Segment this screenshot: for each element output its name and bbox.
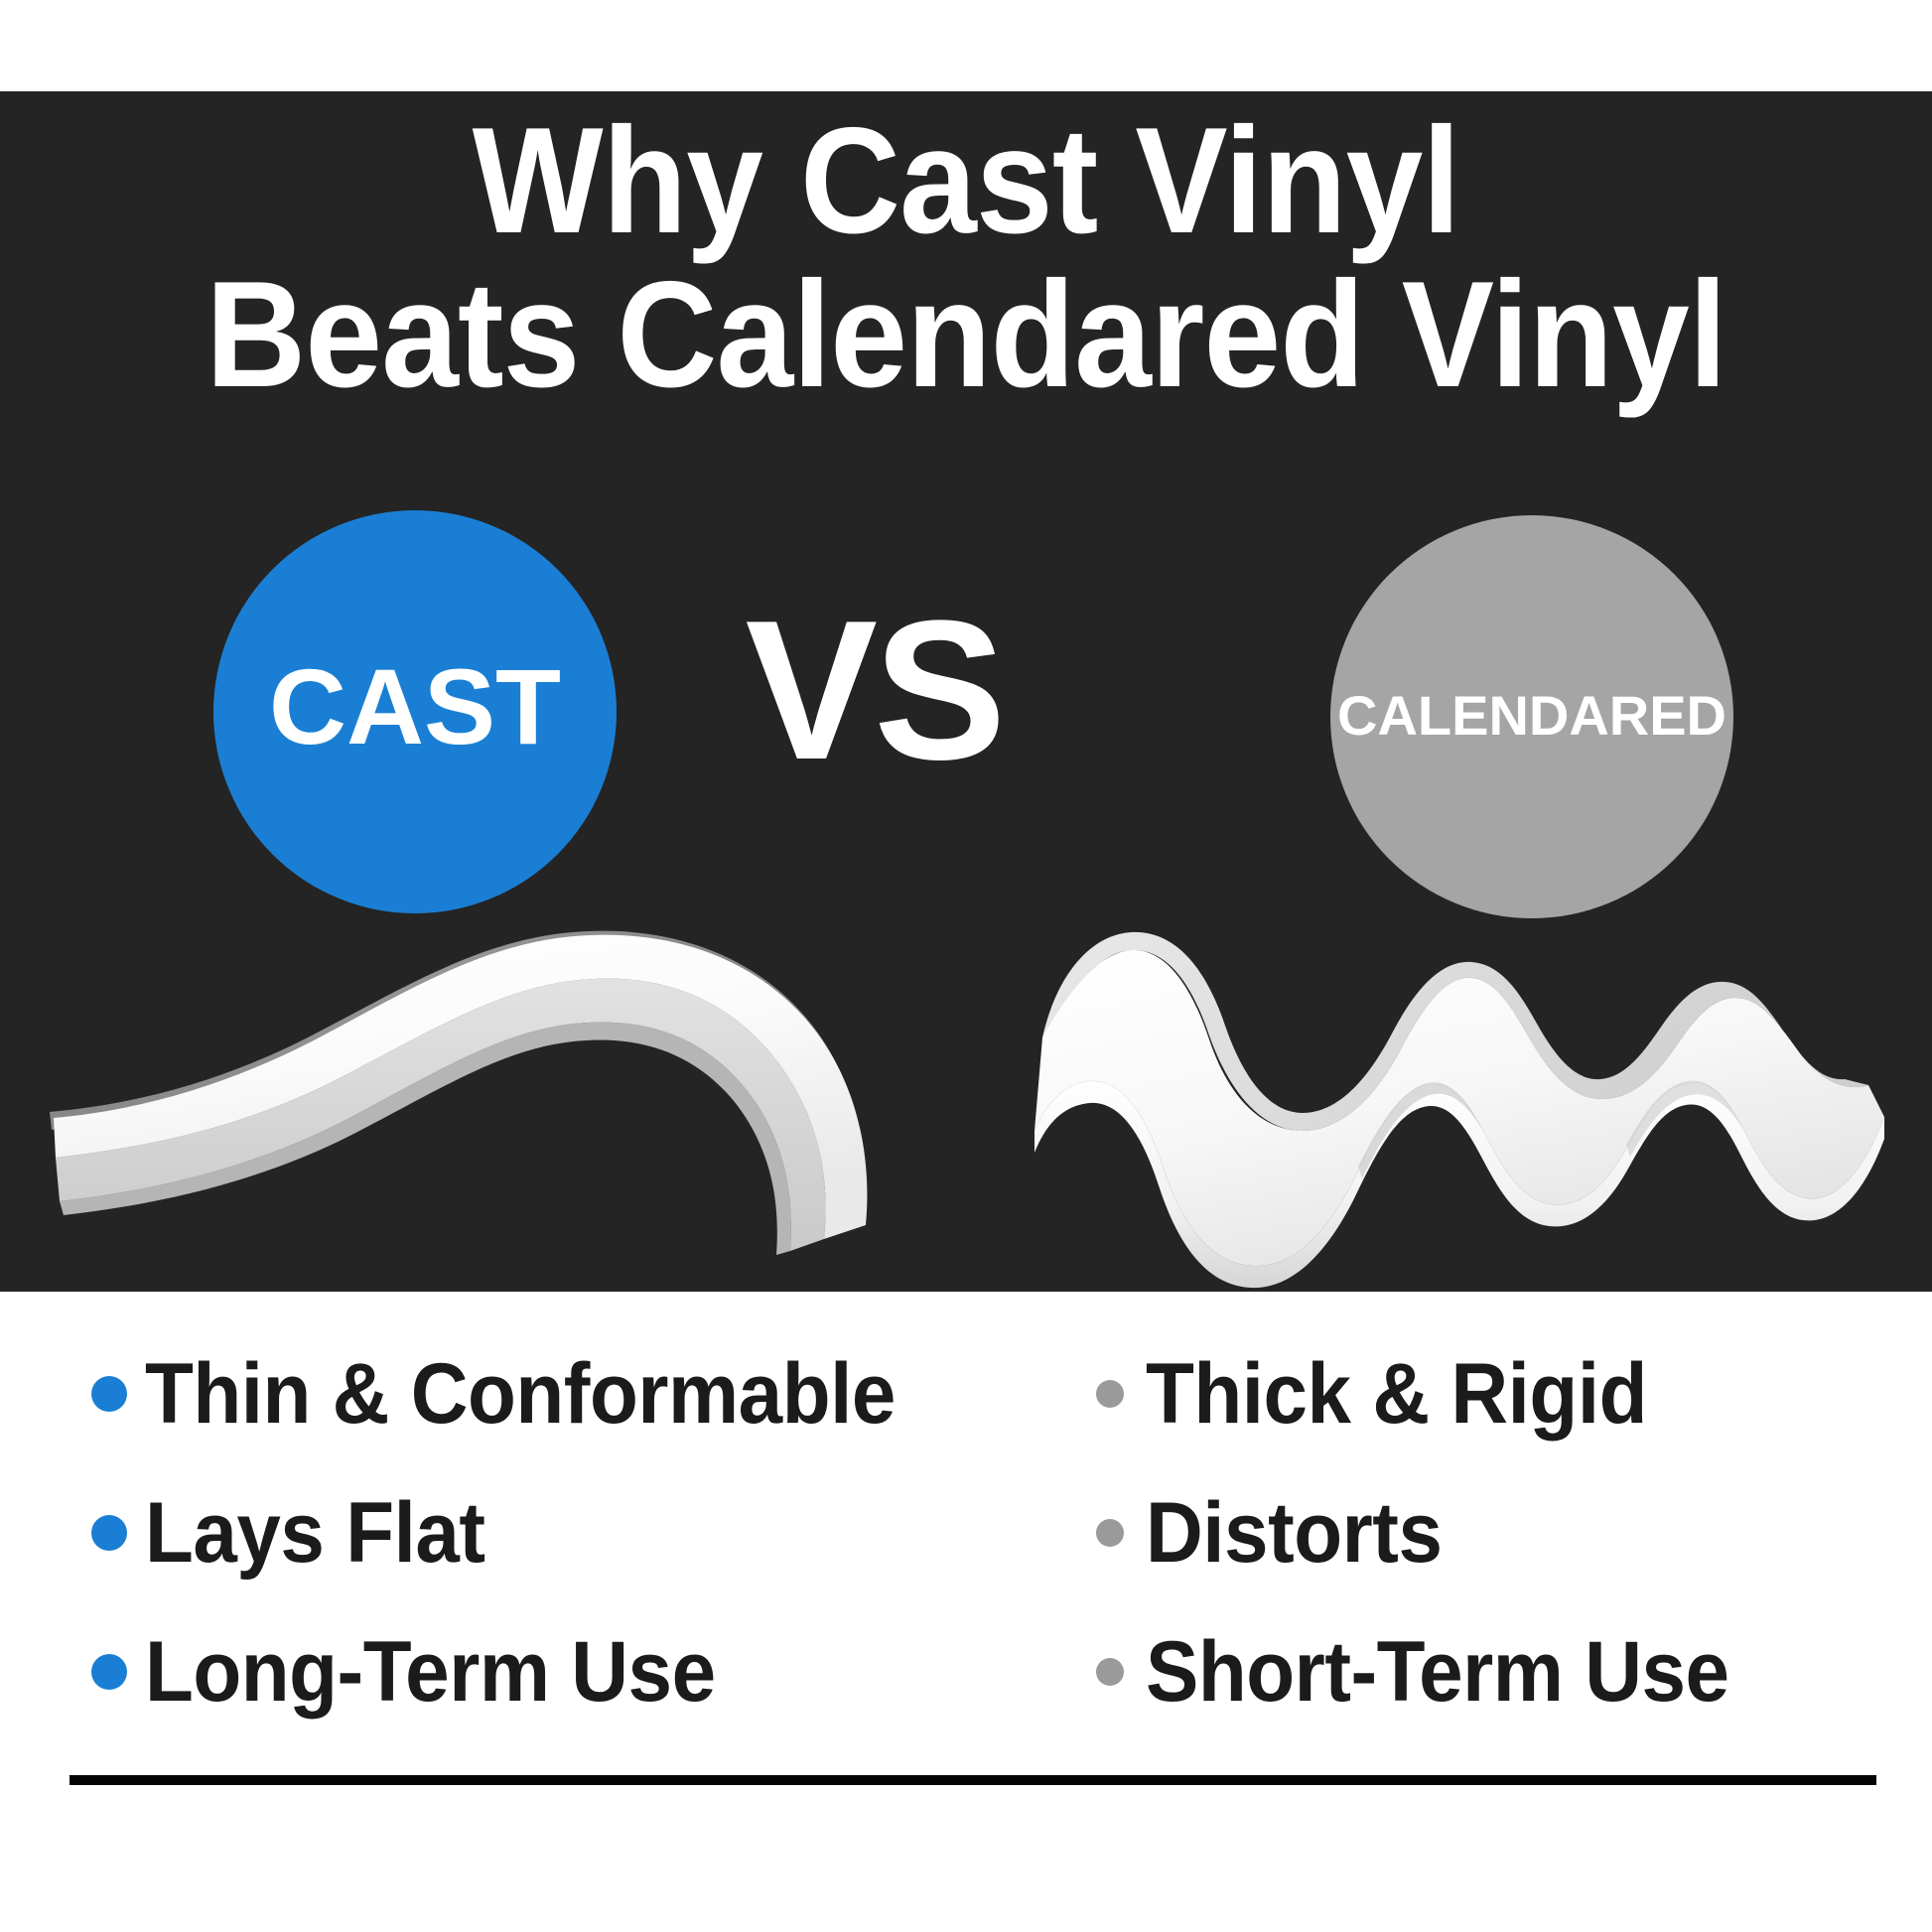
list-item: Short-Term Use (1092, 1613, 1932, 1730)
cast-feature-list: Thin & Conformable Lays Flat Long-Term U… (91, 1335, 985, 1752)
calendared-vinyl-sheet-illustration (1013, 918, 1911, 1301)
bullet-dot-icon (91, 1376, 127, 1412)
list-item: Thin & Conformable (91, 1335, 985, 1452)
list-item: Distorts (1092, 1474, 1932, 1591)
bullet-dot-icon (91, 1515, 127, 1551)
infographic-canvas: Why Cast Vinyl Beats Calendared Vinyl CA… (0, 0, 1932, 1932)
title-line-1: Why Cast Vinyl (77, 107, 1855, 255)
feature-comparison-lists: Thin & Conformable Lays Flat Long-Term U… (0, 1335, 1932, 1762)
calendared-feature-label: Short-Term Use (1146, 1629, 1729, 1715)
cast-feature-label: Lays Flat (145, 1490, 485, 1576)
calendared-badge: CALENDARED (1330, 515, 1733, 918)
bullet-dot-icon (1096, 1658, 1124, 1686)
page-title: Why Cast Vinyl Beats Calendared Vinyl (0, 107, 1932, 409)
list-item: Long-Term Use (91, 1613, 985, 1730)
cast-badge: CAST (213, 510, 617, 913)
versus-label: VS (675, 592, 1072, 790)
list-item: Thick & Rigid (1092, 1335, 1932, 1452)
footer-divider (69, 1775, 1876, 1785)
calendared-feature-label: Distorts (1146, 1490, 1442, 1576)
cast-badge-label: CAST (269, 644, 561, 768)
calendared-feature-list: Thick & Rigid Distorts Short-Term Use (1092, 1335, 1932, 1752)
bullet-dot-icon (1096, 1380, 1124, 1408)
bullet-dot-icon (1096, 1519, 1124, 1547)
title-line-2: Beats Calendared Vinyl (77, 261, 1855, 409)
bullet-dot-icon (91, 1654, 127, 1690)
cast-feature-label: Long-Term Use (145, 1629, 716, 1715)
list-item: Lays Flat (91, 1474, 985, 1591)
calendared-badge-label: CALENDARED (1337, 683, 1726, 748)
calendared-feature-label: Thick & Rigid (1146, 1351, 1647, 1437)
cast-feature-label: Thin & Conformable (145, 1351, 896, 1437)
cast-vinyl-sheet-illustration (40, 923, 933, 1301)
